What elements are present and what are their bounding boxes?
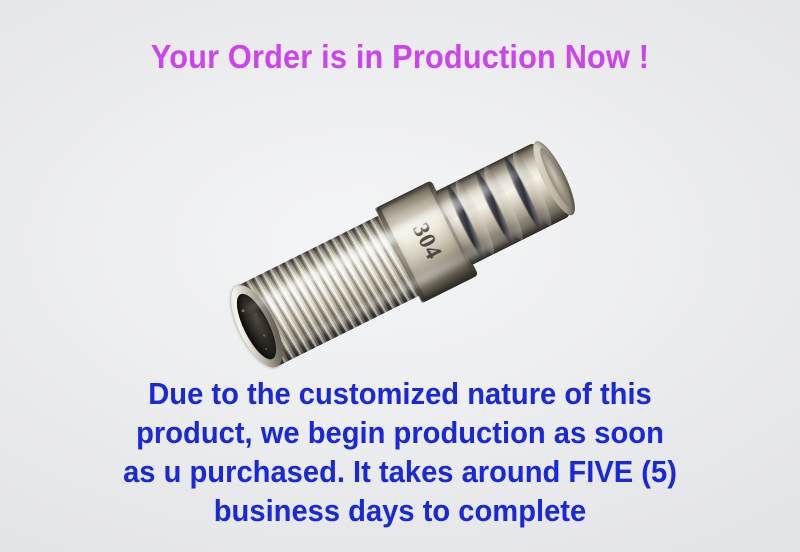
production-notice-text: Due to the customized nature of this pro…	[0, 374, 800, 530]
notice-banner: Your Order is in Production Now ! 304	[0, 0, 800, 552]
product-photo: 304	[232, 150, 592, 370]
page-title: Your Order is in Production Now !	[28, 38, 772, 76]
material-stamp-text: 304	[407, 219, 447, 264]
notice-line-1: Due to the customized nature of this	[24, 374, 776, 413]
notice-line-2: product, we begin production as soon	[24, 413, 776, 452]
notice-line-4: business days to complete	[24, 491, 776, 530]
product-fitting: 304	[173, 41, 593, 399]
notice-line-3: as u purchased. It takes around FIVE (5)	[24, 452, 776, 491]
